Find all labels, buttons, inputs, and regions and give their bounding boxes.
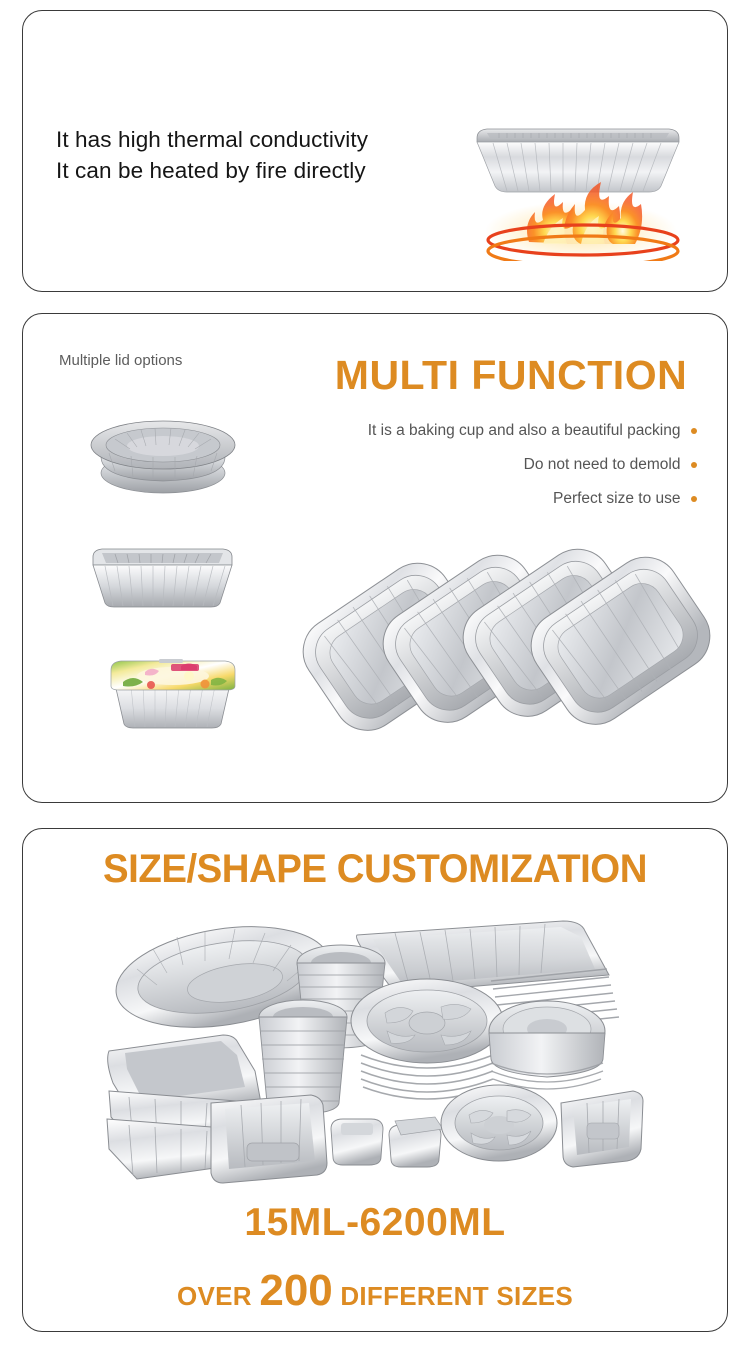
bullet-item: It is a baking cup and also a beautiful …: [277, 422, 697, 440]
sizes-suffix: DIFFERENT SIZES: [340, 1281, 573, 1311]
bullet-dot-icon: [691, 462, 698, 469]
thermal-line-2: It can be heated by fire directly: [56, 155, 368, 186]
thermal-line-1: It has high thermal conductivity: [56, 124, 368, 155]
sizes-prefix: OVER: [177, 1281, 252, 1311]
stacked-foil-containers-illustration: [291, 509, 711, 789]
bullet-label: Do not need to demold: [524, 456, 681, 474]
panel-size-shape-customization: SIZE/SHAPE CUSTOMIZATION: [22, 828, 728, 1332]
thermal-text-block: It has high thermal conductivity It can …: [56, 124, 368, 186]
different-sizes-text: OVER 200 DIFFERENT SIZES: [23, 1266, 727, 1316]
bullet-item: Perfect size to use: [277, 490, 697, 508]
bullet-dot-icon: [691, 428, 698, 435]
lid-option-rectangular-foil-lid: [75, 527, 250, 619]
bullet-item: Do not need to demold: [277, 456, 697, 474]
bullet-label: Perfect size to use: [553, 490, 681, 508]
lid-option-printed-paper-lid: [85, 644, 260, 736]
bullet-label: It is a baking cup and also a beautiful …: [368, 422, 681, 440]
volume-range-text: 15ML-6200ML: [23, 1201, 727, 1245]
lid-options-caption: Multiple lid options: [59, 352, 182, 369]
assorted-foil-containers-group-illustration: [95, 907, 665, 1197]
foil-tray-over-flame-illustration: [463, 116, 703, 261]
lid-option-round-foil-container: [75, 409, 250, 501]
panel-thermal-conductivity: It has high thermal conductivity It can …: [22, 10, 728, 292]
sizes-count: 200: [259, 1266, 332, 1315]
bullet-dot-icon: [691, 496, 698, 503]
multi-function-title: MULTI FUNCTION: [311, 352, 711, 399]
size-shape-title: SIZE/SHAPE CUSTOMIZATION: [37, 847, 713, 892]
panel-multi-function: Multiple lid options: [22, 313, 728, 803]
